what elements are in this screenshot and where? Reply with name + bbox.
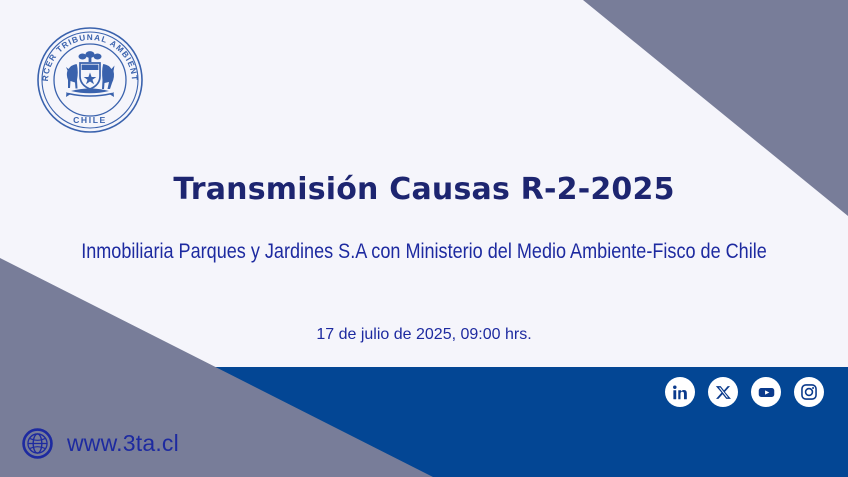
coat-of-arms	[66, 51, 115, 97]
social-links	[665, 377, 824, 407]
presentation-slide: TERCER TRIBUNAL AMBIENTAL CHILE	[0, 0, 848, 477]
case-parties-subtitle: Inmobiliaria Parques y Jardines S.A con …	[59, 240, 788, 264]
seal-country-text: CHILE	[73, 115, 107, 125]
website-link[interactable]: www.3ta.cl	[22, 428, 179, 459]
linkedin-glyph	[671, 383, 690, 402]
x-twitter-icon[interactable]	[708, 377, 738, 407]
instagram-icon[interactable]	[794, 377, 824, 407]
youtube-glyph	[757, 383, 776, 402]
linkedin-icon[interactable]	[665, 377, 695, 407]
tribunal-logo: TERCER TRIBUNAL AMBIENTAL CHILE	[30, 20, 150, 140]
globe-icon	[22, 428, 53, 459]
youtube-icon[interactable]	[751, 377, 781, 407]
page-title: Transmisión Causas R-2-2025	[0, 172, 848, 207]
hearing-datetime: 17 de julio de 2025, 09:00 hrs.	[0, 326, 848, 344]
instagram-glyph	[800, 383, 818, 401]
tribunal-seal-icon: TERCER TRIBUNAL AMBIENTAL CHILE	[30, 20, 150, 140]
website-url-text: www.3ta.cl	[67, 430, 179, 457]
x-glyph	[715, 384, 732, 401]
